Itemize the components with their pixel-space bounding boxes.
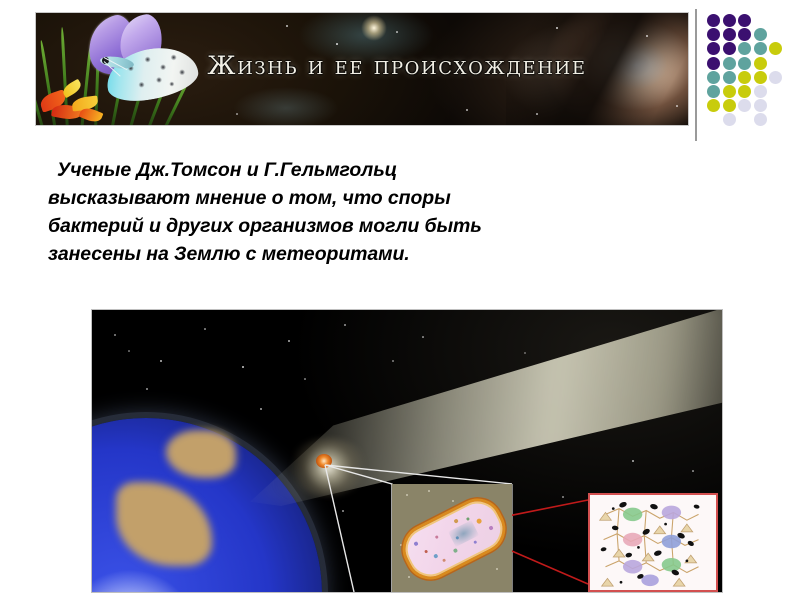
grid-dot-purple	[723, 14, 736, 27]
grid-dot-teal	[738, 57, 751, 70]
grid-dot-yellow	[723, 85, 736, 98]
grid-dot-purple	[738, 14, 751, 27]
grid-dot-yellow	[754, 71, 767, 84]
header-banner-image: Жизнь и ее происхождение	[36, 13, 688, 125]
banner-title: Жизнь и ее происхождение	[36, 51, 688, 80]
grid-dot-lavender	[754, 99, 767, 112]
organelle	[476, 518, 483, 525]
grid-dot-purple	[723, 42, 736, 55]
banner-star	[396, 31, 398, 33]
grid-dot-yellow	[723, 99, 736, 112]
organelle	[453, 518, 458, 523]
grid-dot-teal	[754, 28, 767, 41]
banner-star	[556, 27, 558, 29]
organelle	[435, 535, 439, 539]
banner-star	[646, 35, 648, 37]
banner-star	[466, 109, 468, 111]
grid-dot-yellow	[754, 57, 767, 70]
grid-dot-purple	[707, 42, 720, 55]
grid-dot-purple	[707, 14, 720, 27]
grid-dot-lavender	[754, 113, 767, 126]
banner-star	[676, 105, 678, 107]
speck	[452, 500, 454, 502]
grid-dot-purple	[707, 28, 720, 41]
grid-dot-lavender	[769, 71, 782, 84]
grid-dot-teal	[707, 85, 720, 98]
grid-dot-yellow	[738, 71, 751, 84]
grid-dot-purple	[723, 28, 736, 41]
banner-star	[236, 113, 238, 115]
organelle	[424, 549, 428, 553]
banner-star	[286, 25, 288, 27]
paragraph-line: Ученые Дж.Томсон и Г.Гельмгольц	[44, 156, 644, 184]
vertical-divider	[695, 9, 697, 141]
bacteria-inset	[392, 484, 512, 592]
organelle	[453, 548, 458, 553]
decorative-dot-grid	[707, 14, 799, 126]
grid-dot-teal	[754, 42, 767, 55]
banner-star	[336, 43, 338, 45]
grid-dot-purple	[738, 28, 751, 41]
grid-dot-lavender	[723, 113, 736, 126]
speck	[496, 568, 498, 570]
paragraph-line: высказывают мнение о том, что споры	[44, 184, 644, 212]
grid-dot-yellow	[738, 85, 751, 98]
molecular-structure-diagram	[590, 495, 716, 591]
speck	[408, 576, 410, 578]
organelle	[442, 558, 446, 562]
grid-dot-teal	[723, 57, 736, 70]
speck	[406, 494, 408, 496]
grid-dot-lavender	[738, 99, 751, 112]
grid-dot-teal	[707, 71, 720, 84]
grid-dot-yellow	[707, 99, 720, 112]
comet-earth-panspermia-illustration	[92, 310, 722, 592]
grid-dot-yellow	[769, 42, 782, 55]
grid-dot-teal	[738, 42, 751, 55]
grid-dot-purple	[707, 57, 720, 70]
organelle	[413, 541, 418, 546]
banner-star-flare	[361, 15, 387, 41]
organelle	[433, 553, 438, 558]
organelle	[488, 525, 493, 530]
bacterium-cell	[394, 490, 512, 588]
organelle	[473, 540, 477, 544]
paragraph-line: бактерий и других организмов могли быть	[44, 212, 644, 240]
grid-dot-lavender	[754, 85, 767, 98]
speck	[428, 490, 430, 492]
paragraph-line: занесены на Землю с метеоритами.	[44, 240, 644, 268]
grid-dot-teal	[723, 71, 736, 84]
molecule-inset	[588, 493, 718, 592]
banner-star	[536, 113, 538, 115]
slide-paragraph: Ученые Дж.Томсон и Г.Гельмгольц высказыв…	[44, 156, 644, 268]
